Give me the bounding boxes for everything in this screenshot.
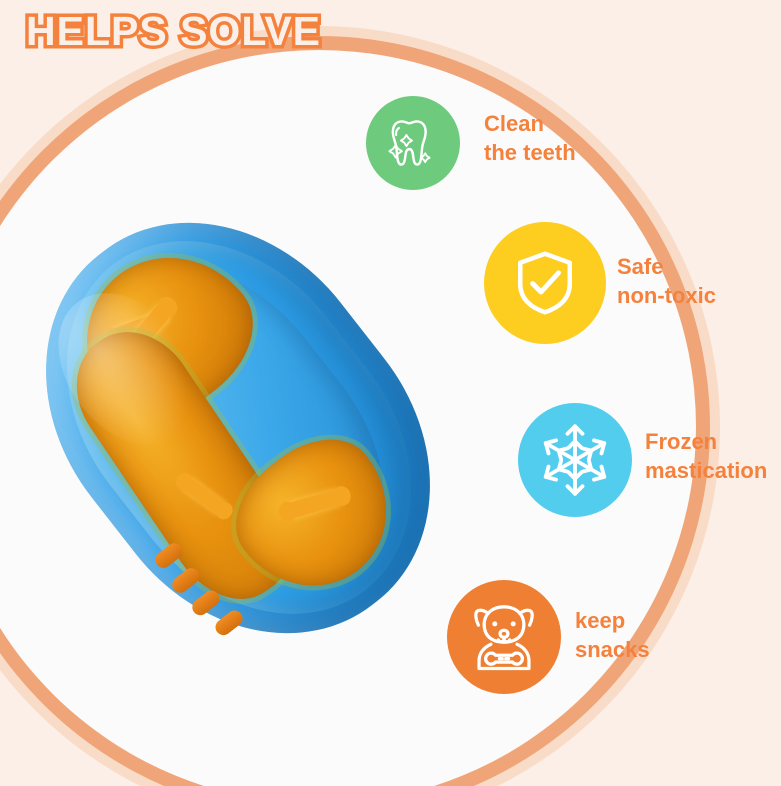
feature-label-teeth: Clean the teeth xyxy=(484,110,576,167)
page-title: HELPS SOLVE xyxy=(26,8,321,55)
dog-bone-icon xyxy=(462,595,546,679)
feature-label-snacks: keep snacks xyxy=(575,607,650,664)
feature-label-line1: keep xyxy=(575,607,650,636)
feature-label-line1: Clean xyxy=(484,110,576,139)
feature-label-line2: snacks xyxy=(575,636,650,665)
feature-label-line1: Frozen xyxy=(645,428,767,457)
infographic-poster: HELPS SOLVE Clean the teeth Safe xyxy=(0,0,781,786)
feature-label-line2: non-toxic xyxy=(617,282,716,311)
feature-icon-circle-frozen xyxy=(518,403,632,517)
feature-label-line2: the teeth xyxy=(484,139,576,168)
shield-check-icon xyxy=(509,247,581,319)
bone-emboss-icon xyxy=(285,488,345,519)
snowflake-icon xyxy=(535,420,615,500)
feature-icon-circle-teeth xyxy=(366,96,460,190)
feature-label-line1: Safe xyxy=(617,253,716,282)
feature-icon-circle-snacks xyxy=(447,580,561,694)
feature-label-line2: mastication xyxy=(645,457,767,486)
tooth-icon xyxy=(383,113,443,173)
bone-emboss-icon xyxy=(179,475,229,517)
product-image xyxy=(18,178,458,678)
feature-label-frozen: Frozen mastication xyxy=(645,428,767,485)
feature-label-safe: Safe non-toxic xyxy=(617,253,716,310)
feature-icon-circle-safe xyxy=(484,222,606,344)
